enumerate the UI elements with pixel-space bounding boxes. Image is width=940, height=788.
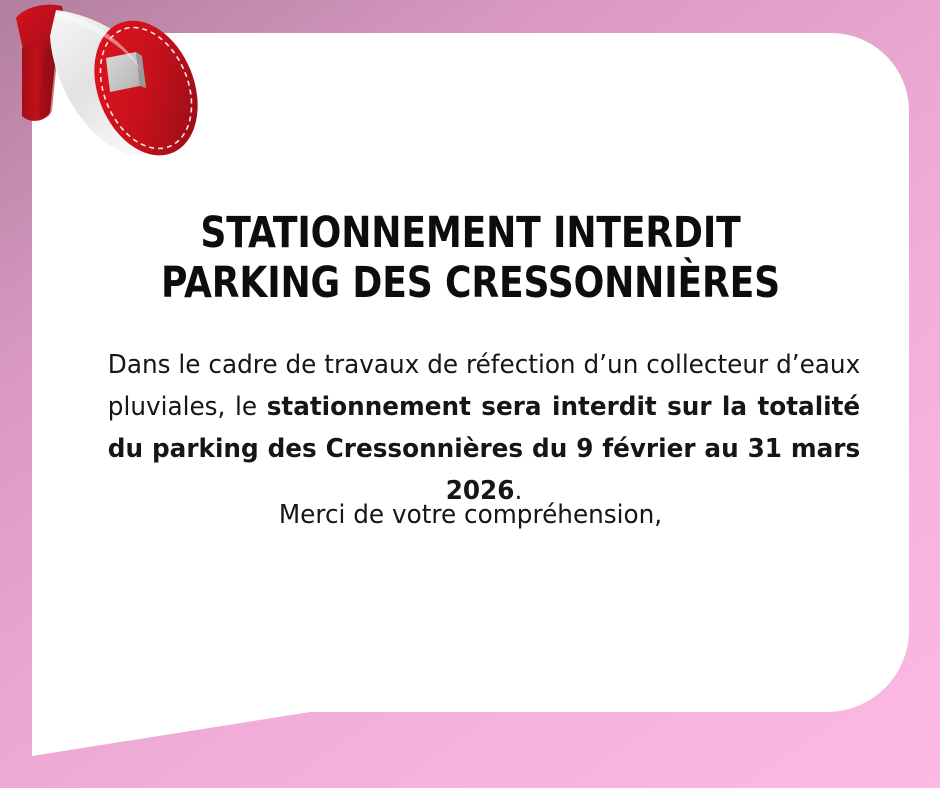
announcement-paragraph: Dans le cadre de travaux de réfection d’… <box>108 344 860 512</box>
page-title-line-1: STATIONNEMENT INTERDIT <box>102 208 839 258</box>
page-title: STATIONNEMENT INTERDIT PARKING DES CRESS… <box>102 208 839 308</box>
closing-line: Merci de votre compréhension, <box>54 498 887 532</box>
megaphone-icon <box>0 0 234 181</box>
announcement-poster: STATIONNEMENT INTERDIT PARKING DES CRESS… <box>0 0 940 788</box>
page-title-line-2: PARKING DES CRESSONNIÈRES <box>102 258 839 308</box>
announcement-body: Dans le cadre de travaux de réfection d’… <box>108 344 860 512</box>
